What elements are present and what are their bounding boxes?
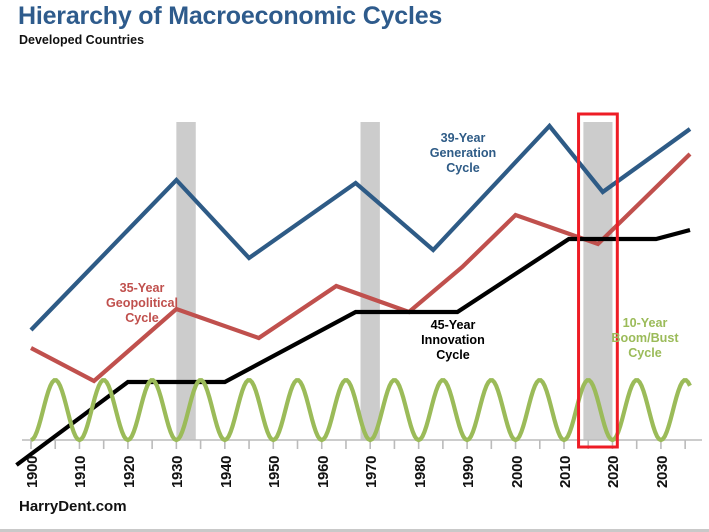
annotation-boombust: 10-Year Boom/Bust Cycle <box>592 316 698 361</box>
annotation-generation: 39-Year Generation Cycle <box>408 131 518 176</box>
credit-label: HarryDent.com <box>19 498 127 515</box>
chart-page: Hierarchy of Macroeconomic Cycles Develo… <box>0 0 709 532</box>
x-tick-label-2030: 2030 <box>654 456 671 488</box>
x-tick-label-1980: 1980 <box>412 456 429 488</box>
x-tick-label-2010: 2010 <box>557 456 574 488</box>
x-tick-label-1940: 1940 <box>218 456 235 488</box>
x-tick-label-1930: 1930 <box>169 456 186 488</box>
annotation-geopolitical: 35-Year Geopolitical Cycle <box>82 281 202 326</box>
x-tick-label-2020: 2020 <box>605 456 622 488</box>
x-tick-label-1960: 1960 <box>315 456 332 488</box>
x-tick-label-1910: 1910 <box>72 456 89 488</box>
x-tick-label-1900: 1900 <box>24 456 41 488</box>
x-tick-label-1970: 1970 <box>363 456 380 488</box>
highlight-band-stagflation-1970s <box>361 122 380 440</box>
x-tick-label-2000: 2000 <box>509 456 526 488</box>
annotation-innovation: 45-Year Innovation Cycle <box>398 318 508 363</box>
x-tick-label-1920: 1920 <box>121 456 138 488</box>
x-tick-label-1950: 1950 <box>266 456 283 488</box>
x-tick-label-1990: 1990 <box>460 456 477 488</box>
cycles-chart <box>0 0 709 532</box>
highlight-band-current-2010s <box>583 122 612 440</box>
